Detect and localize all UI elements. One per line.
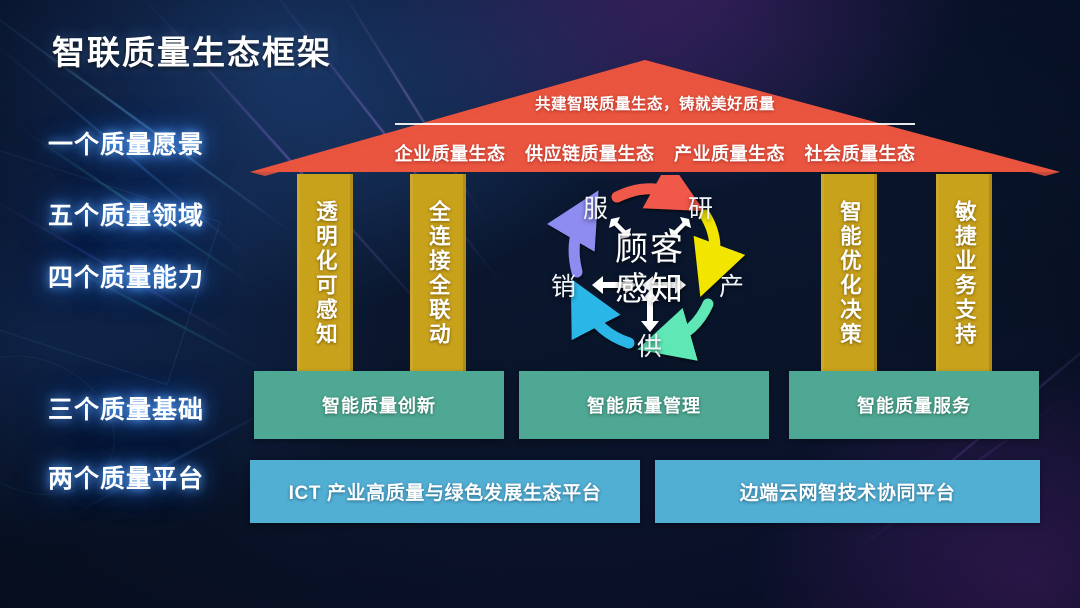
roof-domain-item: 企业质量生态 (394, 144, 505, 164)
side-label-vision: 一个质量愿景 (48, 125, 204, 161)
side-label-capabilities: 四个质量能力 (48, 258, 204, 294)
foundation-innovation: 智能质量创新 (254, 371, 504, 439)
roof-domain-item: 社会质量生态 (805, 144, 916, 164)
platform-label: 边端云网智技术协同平台 (740, 478, 956, 505)
side-label-domains: 五个质量领域 (48, 196, 204, 232)
roof-domain-item: 产业质量生态 (674, 144, 785, 164)
pillar-agile-support: 敏捷业务支持 (936, 174, 992, 372)
pillar-connectivity: 全连接全联动 (410, 174, 466, 372)
roof-divider-rule (395, 123, 915, 125)
foundation-label: 智能质量服务 (857, 392, 971, 418)
customer-perception-cycle: 顾客 感知 服 研 产 供 销 (525, 175, 775, 370)
cycle-node-supply: 供 (637, 327, 662, 363)
pillar-label: 透明化可感知 (314, 200, 337, 347)
pillar-intelligent-decision: 智能优化决策 (821, 174, 877, 372)
pillar-label: 全连接全联动 (427, 200, 450, 347)
foundation-label: 智能质量创新 (322, 392, 436, 418)
pillar-label: 智能优化决策 (838, 200, 861, 347)
cycle-node-service: 服 (583, 189, 608, 225)
roof-vision-text: 共建智联质量生态，铸就美好质量 (250, 92, 1060, 114)
foundation-label: 智能质量管理 (587, 392, 701, 418)
roof-domain-item: 供应链质量生态 (525, 144, 655, 164)
roof-domain-list: 企业质量生态 供应链质量生态 产业质量生态 社会质量生态 (250, 140, 1060, 166)
side-label-foundations: 三个质量基础 (48, 390, 204, 426)
platform-edge-cloud: 边端云网智技术协同平台 (655, 460, 1040, 523)
foundation-management: 智能质量管理 (519, 371, 769, 439)
cycle-node-sales: 销 (551, 267, 576, 303)
arc-supply-to-sales (585, 306, 629, 343)
slide-canvas: 智联质量生态框架 一个质量愿景 五个质量领域 四个质量能力 三个质量基础 两个质… (0, 0, 1080, 608)
side-label-platforms: 两个质量平台 (48, 459, 204, 495)
platform-ict-ecosystem: ICT 产业高质量与绿色发展生态平台 (250, 460, 640, 523)
arc-service-to-rnd (617, 189, 677, 197)
foundation-service: 智能质量服务 (789, 371, 1039, 439)
cycle-node-production: 产 (719, 267, 744, 303)
pillar-label: 敏捷业务支持 (953, 200, 976, 347)
pillar-transparency: 透明化可感知 (297, 174, 353, 372)
cycle-node-rnd: 研 (688, 189, 713, 225)
platform-label: ICT 产业高质量与绿色发展生态平台 (289, 478, 602, 505)
